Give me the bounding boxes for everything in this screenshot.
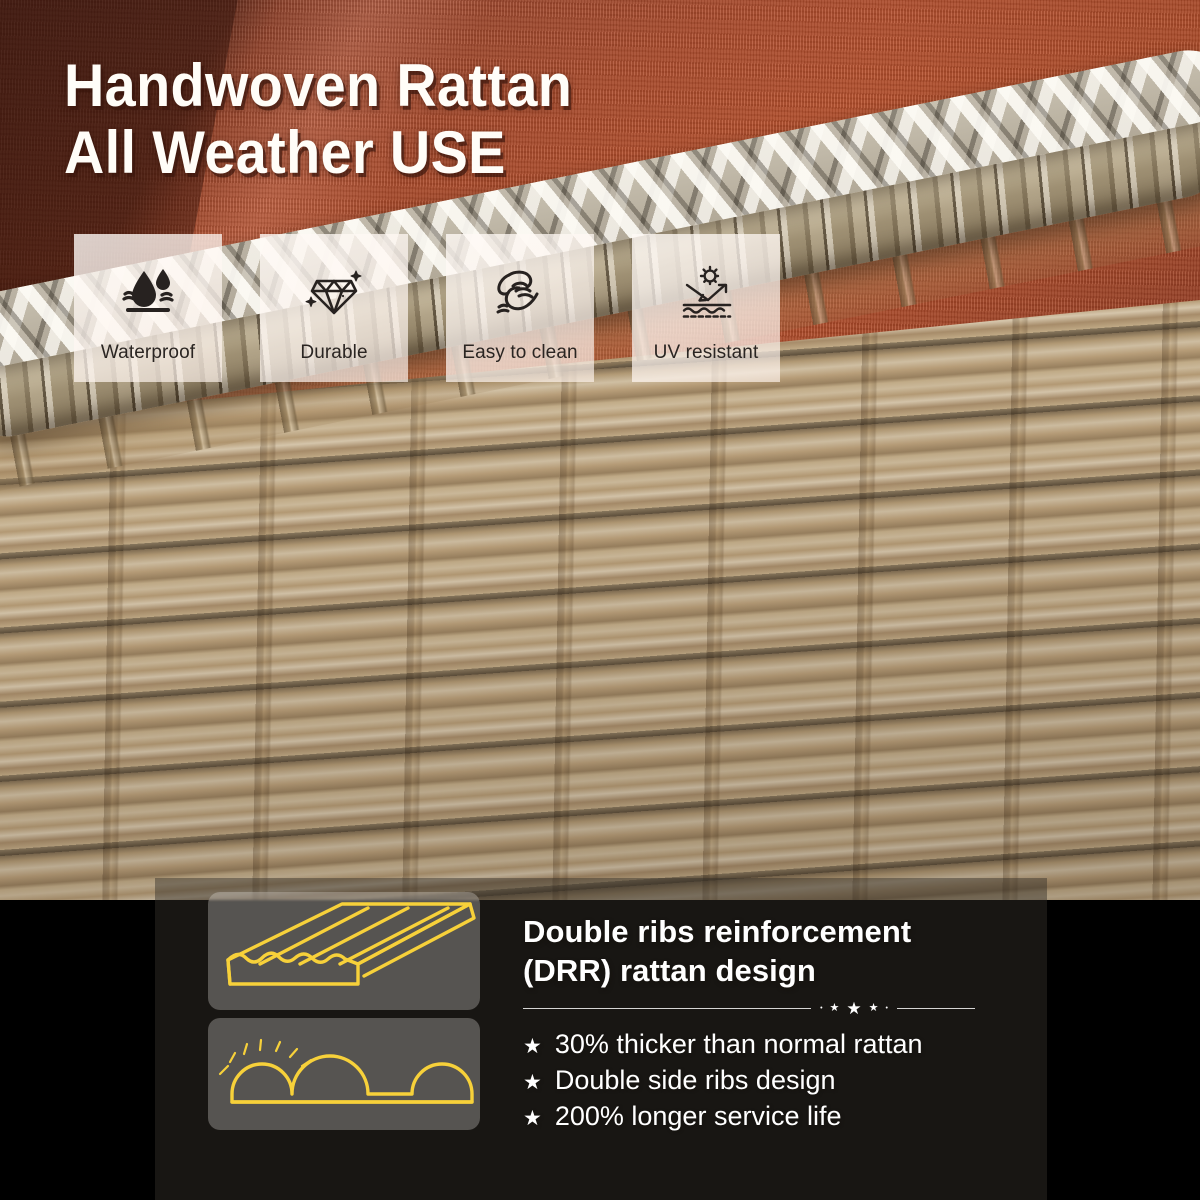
star-bullet-icon: ★ xyxy=(523,1033,542,1061)
divider-ornament: • ★ ★ ★ • xyxy=(811,1000,897,1017)
feature-badge-durable: Durable xyxy=(260,234,408,382)
list-item: ★ 200% longer service life xyxy=(523,1098,923,1134)
rattan-3d-strand-diagram xyxy=(208,892,480,1010)
divider-star-icon: ★ xyxy=(869,1003,879,1014)
feature-badge-label: Waterproof xyxy=(101,342,195,364)
divider-line-left xyxy=(523,1008,811,1009)
divider-dot-icon: • xyxy=(820,1005,822,1012)
diamond-icon xyxy=(303,260,365,326)
feature-badge-label: UV resistant xyxy=(654,342,759,364)
drr-bullet-list: ★ 30% thicker than normal rattan ★ Doubl… xyxy=(523,1026,923,1135)
feature-badge-uv-resistant: UV resistant xyxy=(632,234,780,382)
list-item: ★ Double side ribs design xyxy=(523,1062,923,1098)
feature-badge-waterproof: Waterproof xyxy=(74,234,222,382)
list-item-label: 30% thicker than normal rattan xyxy=(555,1026,923,1062)
divider-star-icon: ★ xyxy=(830,1003,840,1014)
divider-star-large-icon: ★ xyxy=(846,1000,861,1017)
star-bullet-icon: ★ xyxy=(523,1069,542,1097)
feature-badge-easy-to-clean: Easy to clean xyxy=(446,234,594,382)
feature-badge-label: Easy to clean xyxy=(462,342,577,364)
hand-wipe-icon xyxy=(489,260,551,326)
star-bullet-icon: ★ xyxy=(523,1105,542,1133)
rattan-cross-section-diagram xyxy=(208,1018,480,1130)
drr-heading: Double ribs reinforcement (DRR) rattan d… xyxy=(523,912,911,990)
decorative-divider: • ★ ★ ★ • xyxy=(523,1001,975,1015)
drr-heading-line-2: (DRR) rattan design xyxy=(523,951,911,990)
list-item-label: 200% longer service life xyxy=(555,1098,842,1134)
headline-line-2: All Weather USE xyxy=(64,119,572,186)
feature-badge-label: Durable xyxy=(300,342,367,364)
divider-dot-icon: • xyxy=(886,1005,888,1012)
list-item: ★ 30% thicker than normal rattan xyxy=(523,1026,923,1062)
water-drop-icon xyxy=(117,260,179,326)
uv-sun-icon xyxy=(675,260,737,326)
feature-badge-row: Waterproof Durable xyxy=(74,234,780,382)
list-item-label: Double side ribs design xyxy=(555,1062,836,1098)
drr-heading-line-1: Double ribs reinforcement xyxy=(523,912,911,951)
product-feature-image: Handwoven Rattan All Weather USE Waterpr… xyxy=(0,0,1200,1200)
page-title: Handwoven Rattan All Weather USE xyxy=(64,52,572,186)
divider-line-right xyxy=(897,1008,975,1009)
headline-line-1: Handwoven Rattan xyxy=(64,52,572,119)
